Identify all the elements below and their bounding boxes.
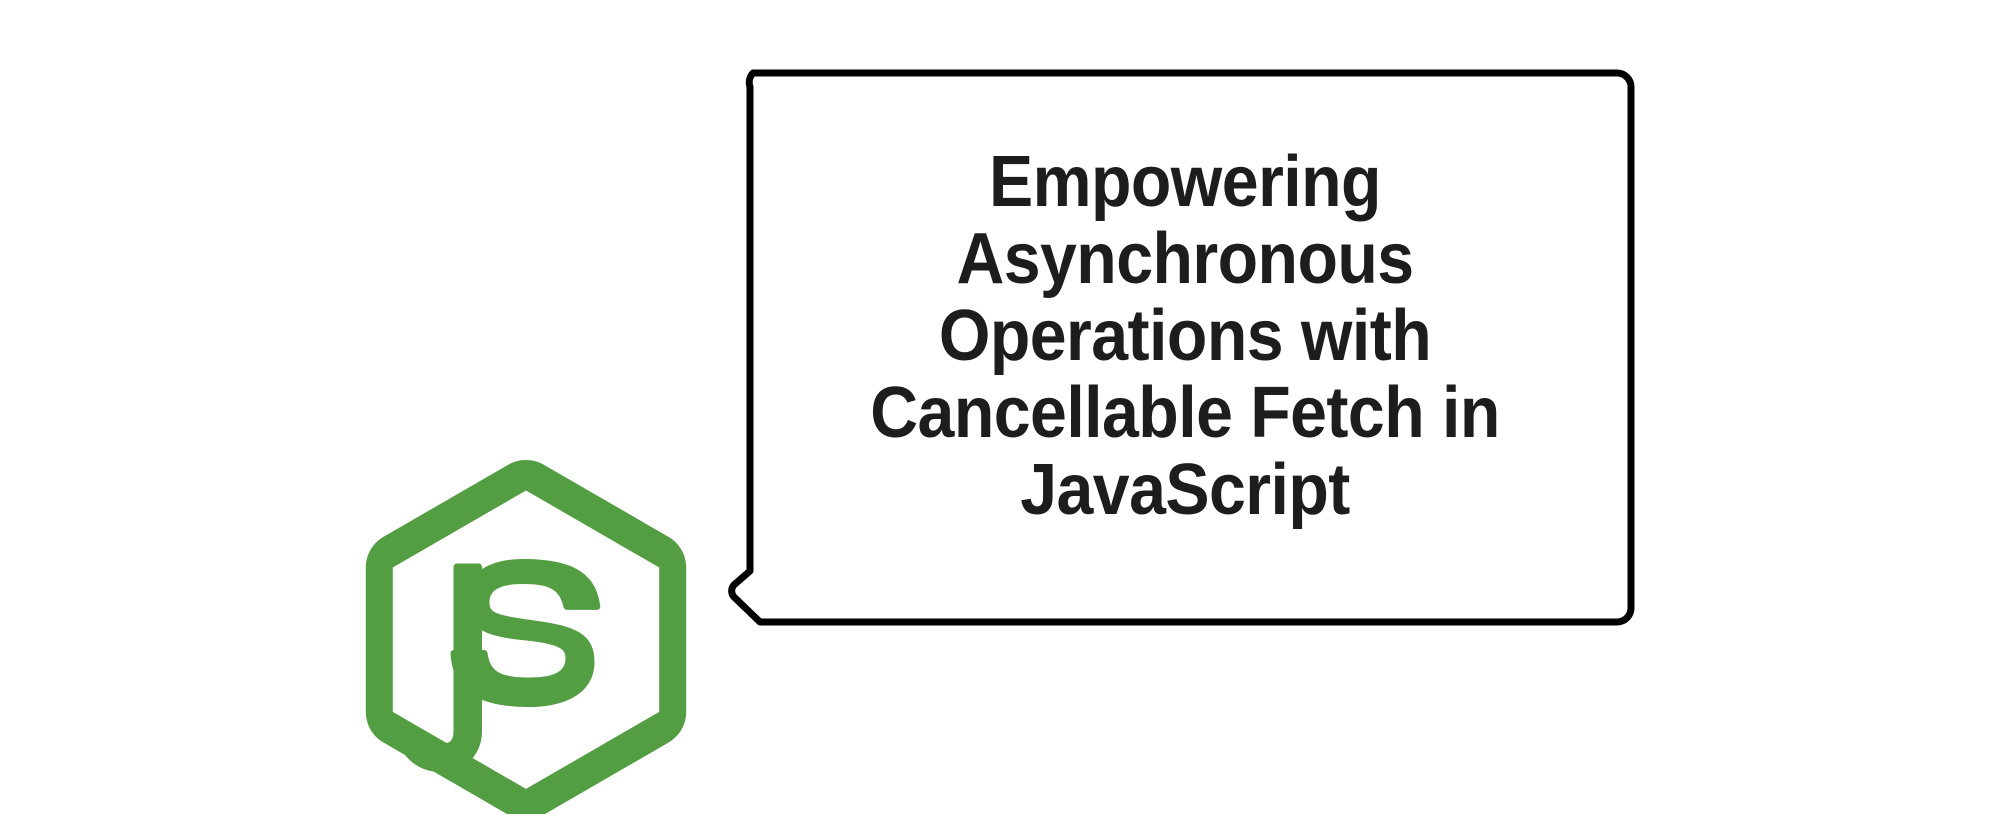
- page-canvas: Empowering Asynchronous Operations with …: [0, 0, 2000, 840]
- title-line-4: Cancellable Fetch in: [813, 375, 1556, 452]
- nodejs-logo: [352, 446, 700, 814]
- title-line-2: Asynchronous: [813, 221, 1556, 298]
- title-line-5: JavaScript: [813, 452, 1556, 529]
- speech-bubble-title: Empowering Asynchronous Operations with …: [735, 55, 1635, 640]
- title-line-1: Empowering: [813, 144, 1556, 221]
- nodejs-logo-svg: [352, 446, 700, 814]
- title-line-3: Operations with: [813, 298, 1556, 375]
- speech-bubble: Empowering Asynchronous Operations with …: [735, 55, 1635, 640]
